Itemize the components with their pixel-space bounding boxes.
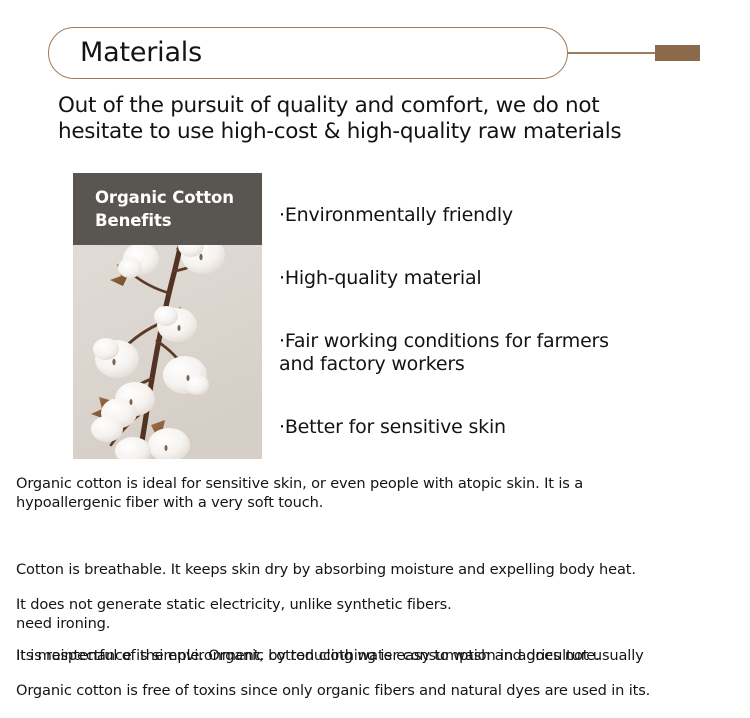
body-paragraph-line: Organic cotton is ideal for sensitive sk… — [16, 474, 738, 493]
benefit-item: ·High-quality material — [279, 267, 482, 290]
subtitle: Out of the pursuit of quality and comfor… — [58, 93, 718, 145]
header-block: Materials — [0, 0, 750, 90]
header-connector-line — [568, 52, 657, 54]
body-paragraph-line: It does not generate static electricity,… — [16, 595, 738, 614]
body-paragraph-line: Cotton is breathable. It keeps skin dry … — [16, 560, 738, 579]
body-paragraph-line: It is respectful of the environment, by … — [16, 646, 738, 665]
benefit-item: ·Better for sensitive skin — [279, 416, 506, 439]
body-paragraph-line: hypoallergenic fiber with a very soft to… — [16, 493, 738, 512]
benefit-item: ·Fair working conditions for farmers and… — [279, 330, 609, 376]
body-paragraph-line: need ironing. — [16, 614, 738, 633]
organic-cotton-photo-card: Organic Cotton Benefits — [73, 173, 262, 459]
photo-caption-line-1: Organic Cotton — [95, 186, 255, 209]
header-end-block — [655, 45, 700, 61]
photo-caption-line-2: Benefits — [95, 209, 255, 232]
page-title: Materials — [80, 32, 202, 74]
body-paragraph-line: Organic cotton is free of toxins since o… — [16, 681, 738, 700]
subtitle-line-1: Out of the pursuit of quality and comfor… — [58, 93, 718, 119]
subtitle-line-2: hesitate to use high-cost & high-quality… — [58, 119, 718, 145]
benefit-item: ·Environmentally friendly — [279, 204, 513, 227]
photo-caption: Organic Cotton Benefits — [95, 186, 255, 232]
